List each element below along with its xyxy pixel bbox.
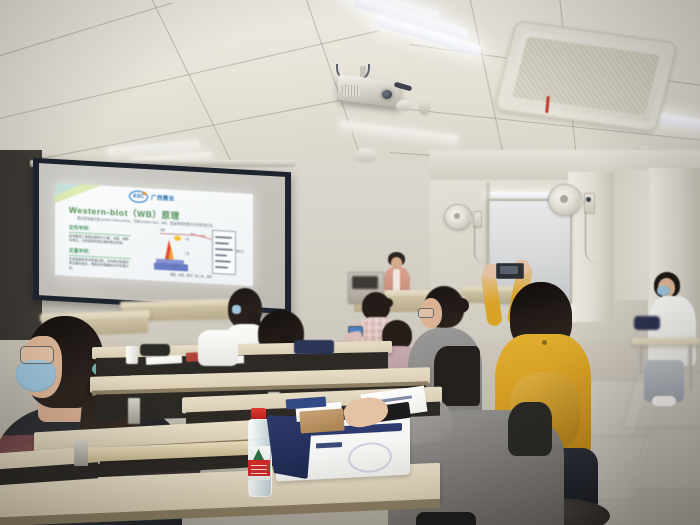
bag-dark xyxy=(140,344,170,356)
face-mask xyxy=(657,286,670,296)
slide-diagram: 抗原 一抗 二抗 膜条带 转膜、封闭、孵育 xyxy=(150,224,246,281)
logo-text: ASC xyxy=(133,194,144,200)
diagram-gel xyxy=(154,263,188,272)
face-mask[interactable] xyxy=(16,360,56,392)
slide-block-1: 定性举例： 检测数值了某蛋白质的分子量、丰度、特异性表达，可快速测定表达量的表达… xyxy=(69,225,131,247)
sprinkler-head-1 xyxy=(420,102,429,114)
diagram-label-1: 抗原 xyxy=(160,228,165,232)
diagram-label-2: 一抗 xyxy=(184,237,189,241)
classroom-photo: ASC 广西赛业 Western-blot（WB）原理 蛋白质免疫印迹 prot… xyxy=(0,0,700,525)
rail-bracket-left xyxy=(74,440,88,466)
slide-block-2: 定量举例： 灰度值或条带光密度比较，与内参比较相对表达量的变化，再结合标准曲线可… xyxy=(69,248,131,274)
diagram-blot-strip xyxy=(212,230,236,275)
smoke-detector-dome xyxy=(355,148,377,162)
logo-accent-dot xyxy=(143,192,146,195)
diagram-caption: 转膜、封闭、孵育一抗二抗、显影 xyxy=(170,272,212,278)
desk-bracket-1 xyxy=(128,398,140,424)
presentation-slide: ASC 广西赛业 Western-blot（WB）原理 蛋白质免疫印迹 prot… xyxy=(55,183,253,286)
logo-org-name: 广西赛业 xyxy=(151,193,175,202)
asc-logo-icon: ASC xyxy=(129,190,148,203)
diagram-label-4: 膜条带 xyxy=(236,249,244,253)
attendee-sleeve-white xyxy=(198,330,238,366)
slide-block-1-body: 检测数值了某蛋白质的分子量、丰度、特异性表达，可快速测定表达量的表达状态。 xyxy=(69,233,131,246)
paper-cup xyxy=(126,346,138,364)
bag-on-desk xyxy=(634,316,660,330)
eyeglasses xyxy=(418,308,434,318)
bag-navy xyxy=(294,340,334,354)
slide-decoration-blue xyxy=(55,183,81,197)
diagram-label-3: 二抗 xyxy=(184,251,189,255)
eyeglasses xyxy=(20,346,54,364)
kraft-envelope xyxy=(299,408,344,433)
slide-logo: ASC 广西赛业 xyxy=(129,190,175,205)
slide-block-2-body: 灰度值或条带光密度比较，与内参比较相对表达量的变化，再结合标准曲线可半定量分析。 xyxy=(69,256,131,274)
wall-panel-divider xyxy=(614,170,650,300)
